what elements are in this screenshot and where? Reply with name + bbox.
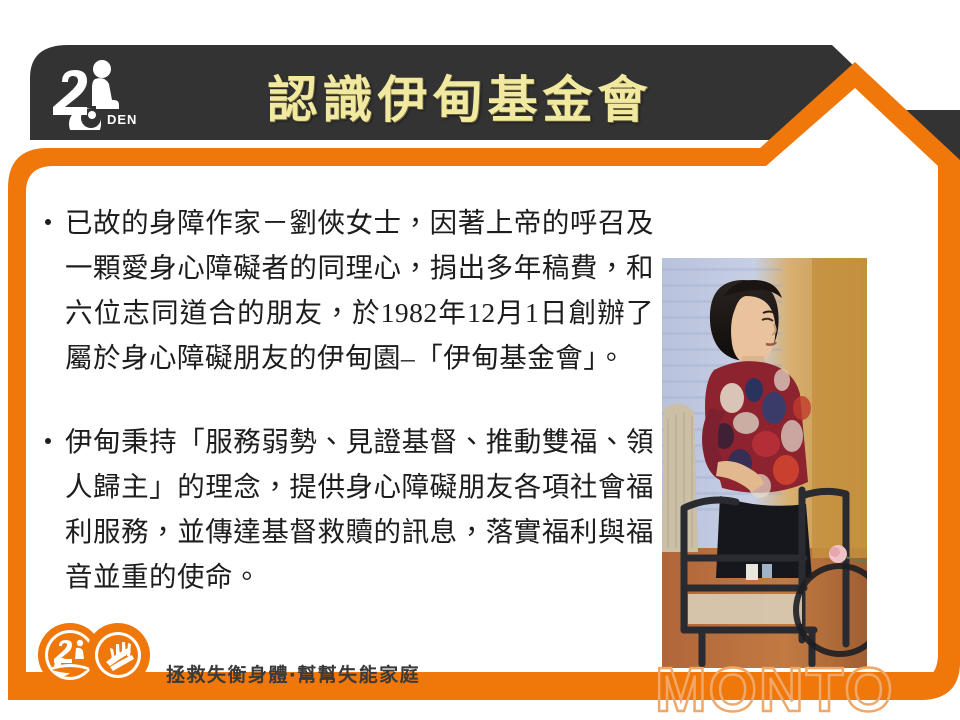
slide-canvas: DEN 認識伊甸基金會 已故的身障作家－劉俠女士，因著上帝的呼召及一顆愛身心障礙… <box>0 0 960 720</box>
25-brs-seal-icon <box>86 623 150 687</box>
footer-logos <box>34 618 154 692</box>
body-text-block: 已故的身障作家－劉俠女士，因著上帝的呼召及一顆愛身心障礙者的同理心，捐出多年稿費… <box>34 172 654 602</box>
svg-text:DEN: DEN <box>107 112 137 127</box>
footer-tagline: 拯救失衡身體‧幫幫失能家庭 <box>166 660 420 687</box>
eden-wheelchair-logo-icon: DEN <box>52 56 138 130</box>
portrait-photo <box>662 258 867 668</box>
page-title: 認識伊甸基金會 <box>180 58 740 134</box>
body-paragraph: 已故的身障作家－劉俠女士，因著上帝的呼召及一顆愛身心障礙者的同理心，捐出多年稿費… <box>34 200 654 380</box>
body-paragraph: 伊甸秉持「服務弱勢、見證基督、推動雙福、領人歸主」的理念，提供身心障礙朋友各項社… <box>34 419 654 599</box>
